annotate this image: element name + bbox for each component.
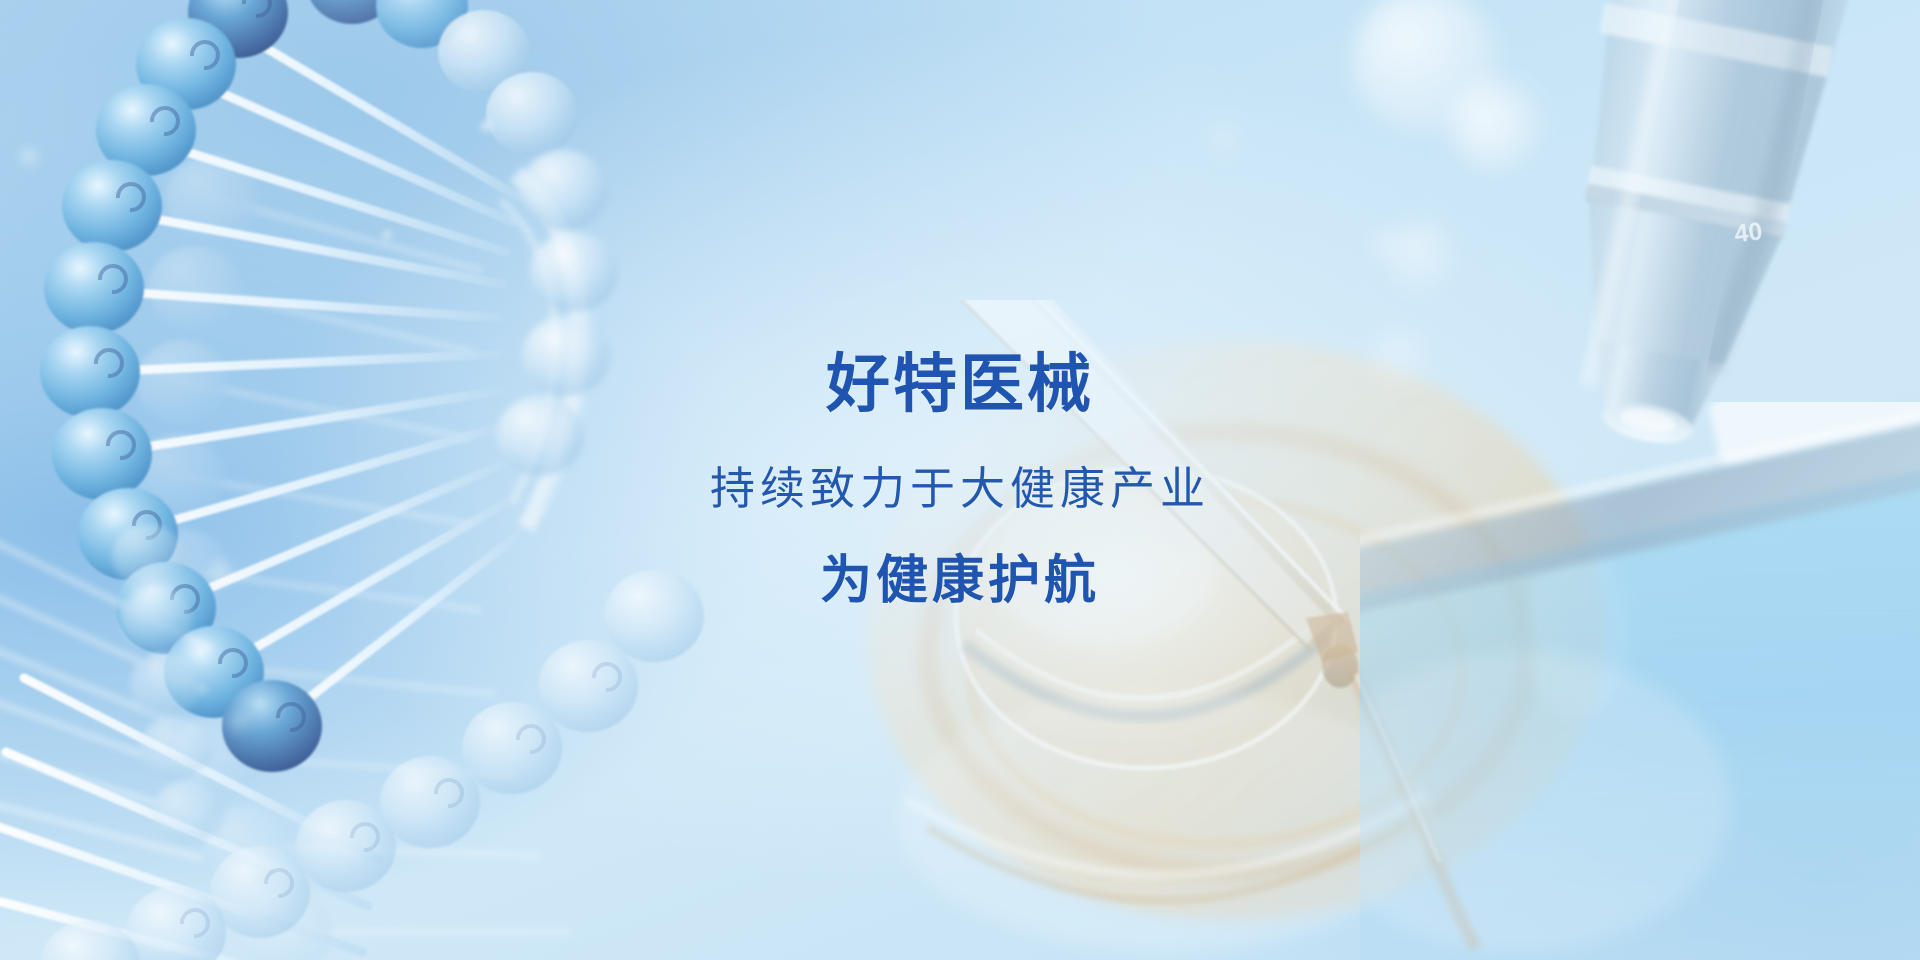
bokeh-circle-icon — [1462, 100, 1526, 164]
bokeh-circle-icon — [228, 712, 250, 734]
banner-subtitle: 持续致力于大健康产业 — [0, 466, 1920, 511]
banner-text-block: 好特医械 持续致力于大健康产业 为健康护航 — [0, 352, 1920, 607]
bokeh-circle-icon — [1208, 122, 1242, 156]
bokeh-circle-icon — [480, 120, 494, 134]
banner-headline: 好特医械 — [0, 352, 1920, 416]
banner-tagline: 为健康护航 — [0, 555, 1920, 607]
bokeh-circle-icon — [382, 230, 393, 241]
bokeh-circle-icon — [20, 148, 40, 168]
hero-banner: 40 — [0, 0, 1920, 960]
bokeh-circle-icon — [1388, 222, 1454, 292]
bokeh-circle-icon — [1370, 230, 1400, 260]
